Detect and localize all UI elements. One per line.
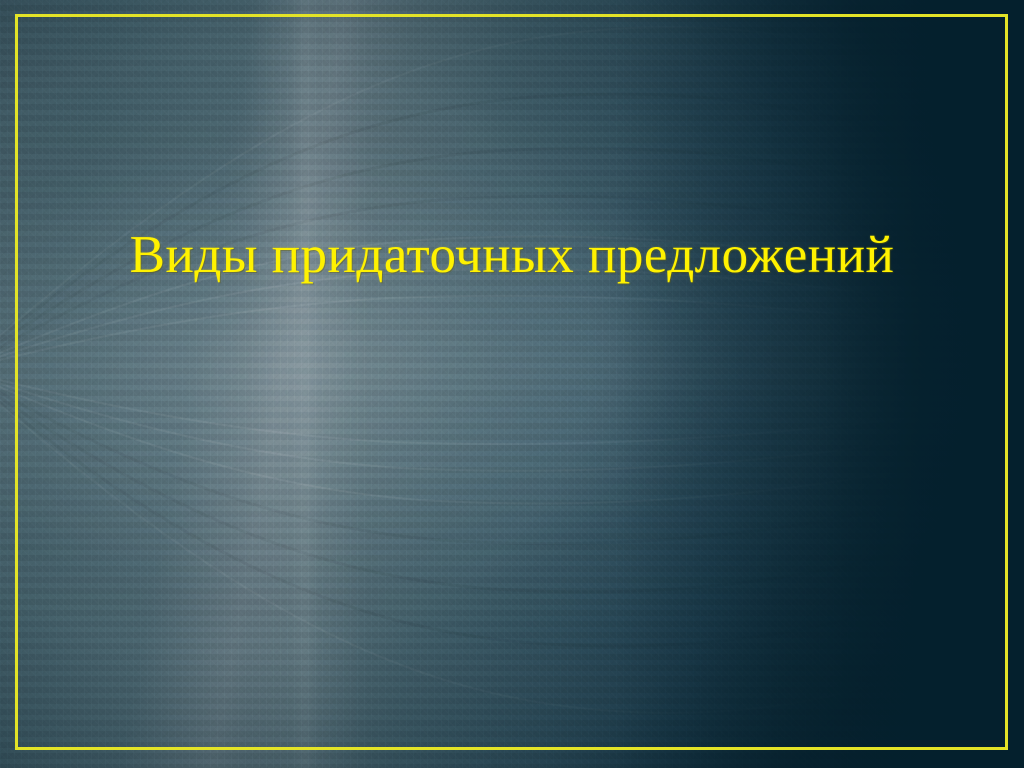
background-right-dark-fade: [0, 0, 1024, 768]
title-block: Виды придаточных предложений: [0, 192, 1024, 317]
slide-title: Виды придаточных предложений: [130, 228, 895, 282]
slide: Виды придаточных предложений: [0, 0, 1024, 768]
